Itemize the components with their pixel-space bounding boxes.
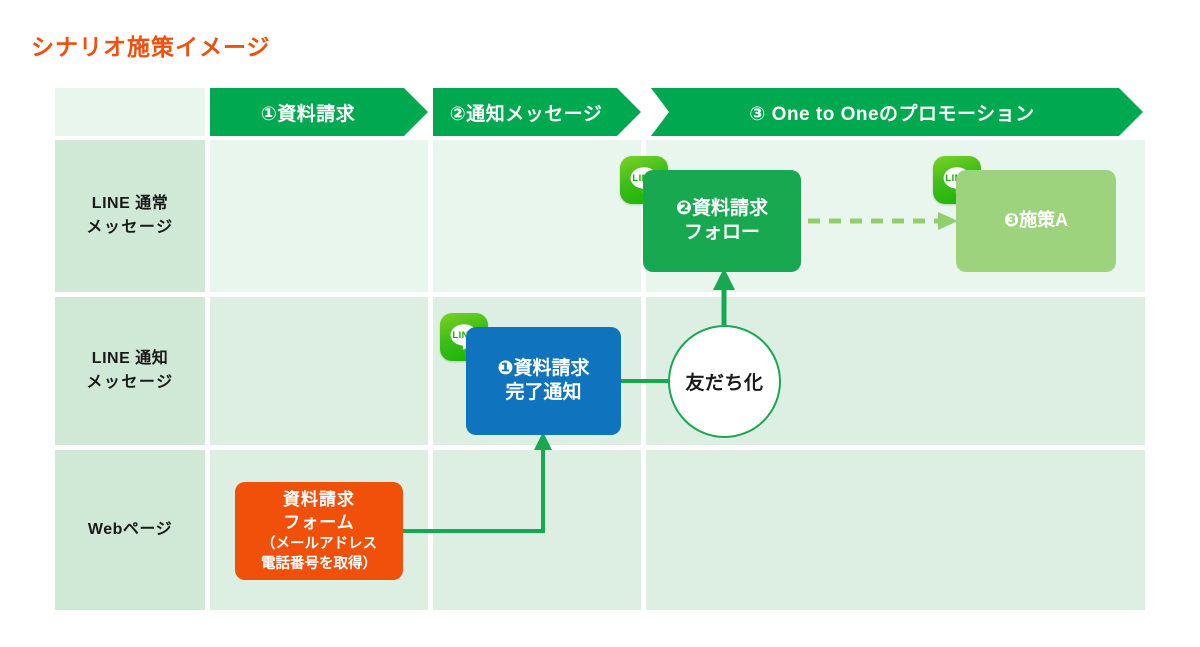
node-follow-line1: ❷資料請求	[676, 197, 768, 221]
node-notice-line2: 完了通知	[505, 381, 581, 405]
node-measure-a[interactable]: ❸施策A	[956, 170, 1116, 272]
node-friend-label: 友だち化	[685, 368, 763, 395]
node-completion-notice[interactable]: ❶資料請求 完了通知	[466, 327, 621, 435]
cell-r1c1	[210, 140, 428, 292]
node-notice-line1: ❶資料請求	[497, 357, 589, 381]
row-label-line1: Webページ	[88, 518, 172, 542]
swimlane-row-web-page: Webページ	[55, 450, 1145, 610]
header-row: ①資料請求 ②通知メッセージ ③ One to Oneのプロモーション	[55, 88, 1145, 136]
step-chevron-1[interactable]: ①資料請求	[210, 88, 428, 136]
step-chevron-2[interactable]: ②通知メッセージ	[433, 88, 641, 136]
node-friend-conversion[interactable]: 友だち化	[668, 325, 781, 438]
cell-r1c2	[433, 140, 641, 292]
row-label-line2: メッセージ	[86, 216, 173, 240]
cell-r2c1	[210, 297, 428, 445]
row-label-line1: LINE 通知	[92, 347, 168, 371]
node-form-line3: （メールアドレス	[261, 534, 377, 554]
node-form-line2: フォーム	[283, 511, 355, 534]
cell-r3c3	[646, 450, 1145, 610]
node-measure-a-label: ❸施策A	[1004, 209, 1068, 232]
row-label-web-page: Webページ	[55, 450, 205, 610]
node-follow-line2: フォロー	[684, 221, 760, 245]
row-label-line1: LINE 通常	[92, 192, 168, 216]
page-title: シナリオ施策イメージ	[31, 28, 271, 62]
step-chevron-3[interactable]: ③ One to Oneのプロモーション	[633, 88, 1143, 136]
row-label-line-notice: LINE 通知 メッセージ	[55, 297, 205, 445]
header-corner-cell	[55, 88, 205, 136]
row-label-line2: メッセージ	[86, 371, 173, 395]
cell-r3c2	[433, 450, 641, 610]
scenario-diagram: シナリオ施策イメージ ①資料請求 ②通知メッセージ ③ One to Oneのプ…	[0, 0, 1200, 647]
row-label-line-normal: LINE 通常 メッセージ	[55, 140, 205, 292]
node-form-line1: 資料請求	[283, 488, 355, 511]
node-request-form[interactable]: 資料請求 フォーム （メールアドレス 電話番号を取得）	[235, 482, 403, 580]
node-form-line4: 電話番号を取得）	[261, 554, 377, 574]
node-follow-message[interactable]: ❷資料請求 フォロー	[643, 170, 801, 272]
